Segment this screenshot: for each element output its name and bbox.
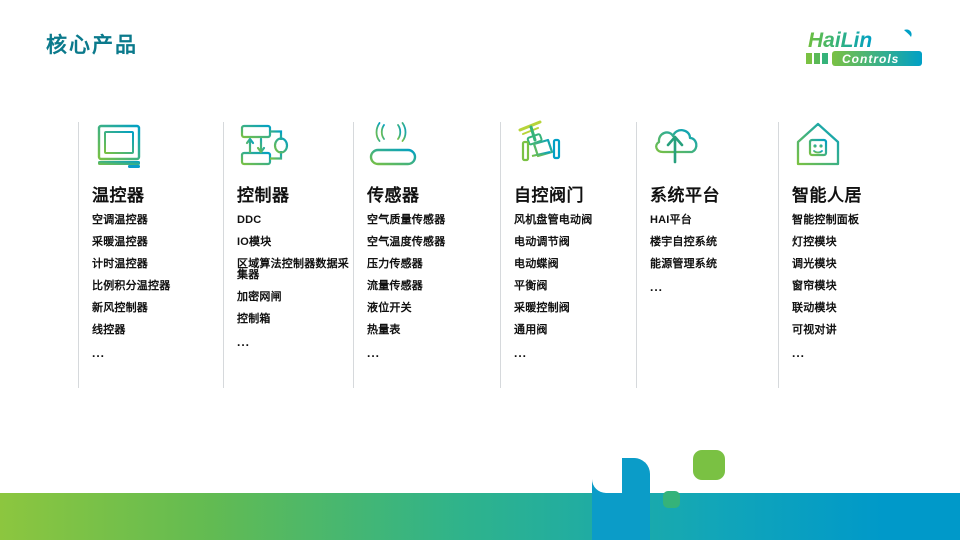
list-item[interactable]: 风机盘管电动阀 xyxy=(514,215,636,226)
column-item-list: 空气质量传感器 空气温度传感器 压力传感器 流量传感器 液位开关 热量表 ... xyxy=(367,215,500,359)
list-item[interactable]: 窗帘模块 xyxy=(792,281,910,292)
list-ellipsis: ... xyxy=(237,336,353,348)
product-column-platform[interactable]: 系统平台 HAI平台 楼宇自控系统 能源管理系统 ... xyxy=(636,118,778,408)
list-item[interactable]: 电动调节阀 xyxy=(514,237,636,248)
slide-canvas: 核心产品 HaiLin Controls xyxy=(0,0,960,540)
product-column-valve[interactable]: 自控阀门 风机盘管电动阀 电动调节阀 电动蝶阀 平衡阀 采暖控制阀 通用阀 ..… xyxy=(500,118,636,408)
hailin-controls-logo: HaiLin Controls xyxy=(792,26,932,70)
list-item[interactable]: HAI平台 xyxy=(650,215,778,226)
list-item[interactable]: 能源管理系统 xyxy=(650,259,778,270)
list-item[interactable]: IO模块 xyxy=(237,237,353,248)
column-item-list: 空调温控器 采暖温控器 计时温控器 比例积分温控器 新风控制器 线控器 ... xyxy=(92,215,223,359)
list-item[interactable]: 采暖控制阀 xyxy=(514,303,636,314)
list-item[interactable]: 可视对讲 xyxy=(792,325,910,336)
svg-text:HaiLin: HaiLin xyxy=(808,29,872,52)
monitor-thermostat-icon xyxy=(92,118,148,180)
footer-gradient-band xyxy=(0,493,960,540)
column-heading: 控制器 xyxy=(237,186,353,206)
column-heading: 智能人居 xyxy=(792,186,910,206)
list-item[interactable]: 加密网闸 xyxy=(237,292,353,303)
column-heading: 系统平台 xyxy=(650,186,778,206)
svg-text:Controls: Controls xyxy=(842,52,899,66)
list-item[interactable]: 线控器 xyxy=(92,325,223,336)
column-item-list: 风机盘管电动阀 电动调节阀 电动蝶阀 平衡阀 采暖控制阀 通用阀 ... xyxy=(514,215,636,359)
list-item[interactable]: 联动模块 xyxy=(792,303,910,314)
column-item-list: 智能控制面板 灯控模块 调光模块 窗帘模块 联动模块 可视对讲 ... xyxy=(792,215,910,359)
list-ellipsis: ... xyxy=(650,281,778,293)
decorative-shape-green-small xyxy=(663,491,680,508)
list-item[interactable]: 采暖温控器 xyxy=(92,237,223,248)
list-ellipsis: ... xyxy=(514,347,636,359)
decorative-shape-notch xyxy=(592,458,622,493)
product-column-smart-home[interactable]: 智能人居 智能控制面板 灯控模块 调光模块 窗帘模块 联动模块 可视对讲 ... xyxy=(778,118,910,408)
page-title: 核心产品 xyxy=(46,35,138,56)
column-heading: 温控器 xyxy=(92,186,223,206)
list-ellipsis: ... xyxy=(367,347,500,359)
list-item[interactable]: 平衡阀 xyxy=(514,281,636,292)
list-item[interactable]: 新风控制器 xyxy=(92,303,223,314)
list-item[interactable]: 流量传感器 xyxy=(367,281,500,292)
list-item[interactable]: 控制箱 xyxy=(237,314,353,325)
list-item[interactable]: 压力传感器 xyxy=(367,259,500,270)
list-ellipsis: ... xyxy=(92,347,223,359)
cloud-upload-icon xyxy=(650,118,706,180)
list-item[interactable]: 热量表 xyxy=(367,325,500,336)
column-heading: 传感器 xyxy=(367,186,500,206)
list-ellipsis: ... xyxy=(792,347,910,359)
controller-modules-icon xyxy=(237,118,293,180)
product-column-sensor[interactable]: 传感器 空气质量传感器 空气温度传感器 压力传感器 流量传感器 液位开关 热量表… xyxy=(353,118,500,408)
list-item[interactable]: 比例积分温控器 xyxy=(92,281,223,292)
list-item[interactable]: 计时温控器 xyxy=(92,259,223,270)
wireless-sensor-icon xyxy=(367,118,423,180)
list-item[interactable]: 液位开关 xyxy=(367,303,500,314)
product-column-controller[interactable]: 控制器 DDC IO模块 区域算法控制器数据采集器 加密网闸 控制箱 ... xyxy=(223,118,353,408)
list-item[interactable]: 智能控制面板 xyxy=(792,215,910,226)
column-heading: 自控阀门 xyxy=(514,186,636,206)
control-valve-icon xyxy=(514,118,570,180)
decorative-shape-green-large xyxy=(693,450,725,480)
column-item-list: HAI平台 楼宇自控系统 能源管理系统 ... xyxy=(650,215,778,293)
list-item[interactable]: 电动蝶阀 xyxy=(514,259,636,270)
product-columns: 温控器 空调温控器 采暖温控器 计时温控器 比例积分温控器 新风控制器 线控器 … xyxy=(78,118,910,408)
list-item[interactable]: 调光模块 xyxy=(792,259,910,270)
list-item[interactable]: 空调温控器 xyxy=(92,215,223,226)
list-item[interactable]: 空气质量传感器 xyxy=(367,215,500,226)
list-item[interactable]: 空气温度传感器 xyxy=(367,237,500,248)
product-column-thermostat[interactable]: 温控器 空调温控器 采暖温控器 计时温控器 比例积分温控器 新风控制器 线控器 … xyxy=(78,118,223,408)
list-item[interactable]: 区域算法控制器数据采集器 xyxy=(237,259,353,281)
list-item[interactable]: 通用阀 xyxy=(514,325,636,336)
column-item-list: DDC IO模块 区域算法控制器数据采集器 加密网闸 控制箱 ... xyxy=(237,215,353,348)
list-item[interactable]: 楼宇自控系统 xyxy=(650,237,778,248)
list-item[interactable]: 灯控模块 xyxy=(792,237,910,248)
list-item[interactable]: DDC xyxy=(237,215,353,226)
smart-home-chip-icon xyxy=(792,118,848,180)
